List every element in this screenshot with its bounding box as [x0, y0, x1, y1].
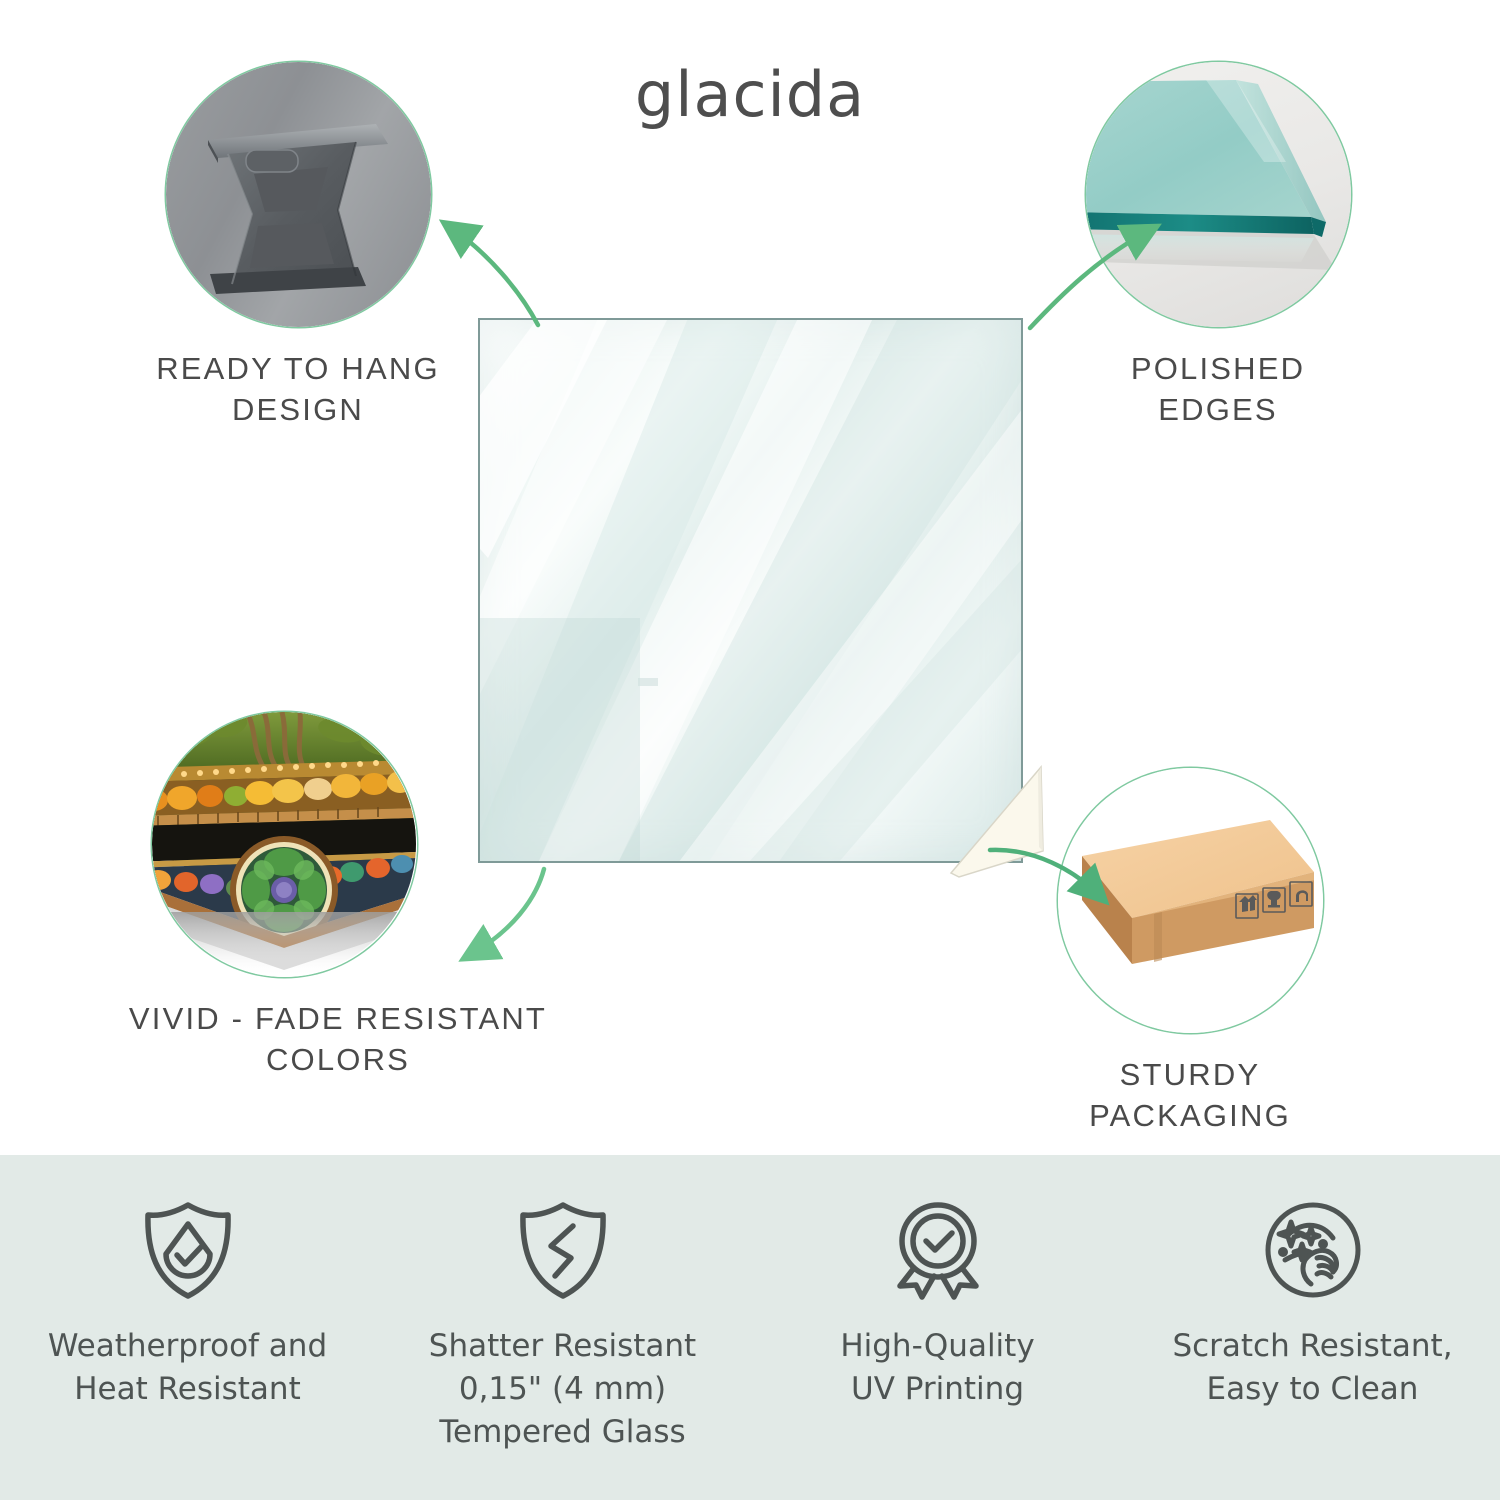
band-item-scratch-resistant: Scratch Resistant, Easy to Clean — [1125, 1155, 1500, 1411]
feature-image-circle — [166, 62, 431, 327]
feature-label: READY TO HANG DESIGN — [88, 349, 508, 431]
shield-droplet-check-icon — [0, 1197, 375, 1303]
arrow-to-ready-to-hang — [420, 195, 620, 355]
band-item-shatter-resistant: Shatter Resistant 0,15" (4 mm) Tempered … — [375, 1155, 750, 1453]
feature-label: STURDY PACKAGING — [990, 1055, 1390, 1137]
band-item-label: Shatter Resistant 0,15" (4 mm) Tempered … — [375, 1325, 750, 1453]
stained-glass-artwork-photo — [152, 712, 417, 977]
hanging-bracket-photo — [166, 62, 431, 327]
feature-label: VIVID - FADE RESISTANT COLORS — [88, 999, 588, 1081]
feature-label: POLISHED EDGES — [1018, 349, 1418, 431]
glass-reflections — [478, 318, 1023, 863]
arrow-to-polished-edges — [1020, 200, 1220, 350]
feature-image-circle — [152, 712, 417, 977]
hand-sparkle-clean-icon — [1125, 1197, 1500, 1303]
band-item-uv-printing: High-Quality UV Printing — [750, 1155, 1125, 1411]
band-item-weatherproof: Weatherproof and Heat Resistant — [0, 1155, 375, 1411]
arrow-to-vivid-colors — [440, 855, 640, 995]
feature-band: Weatherproof and Heat Resistant Shatter … — [0, 1155, 1500, 1500]
award-badge-check-icon — [750, 1197, 1125, 1303]
band-item-label: Scratch Resistant, Easy to Clean — [1125, 1325, 1500, 1411]
infographic-canvas: glacida — [0, 0, 1500, 1500]
shield-crack-icon — [375, 1197, 750, 1303]
band-item-label: Weatherproof and Heat Resistant — [0, 1325, 375, 1411]
band-item-label: High-Quality UV Printing — [750, 1325, 1125, 1411]
arrow-to-sturdy-packaging — [982, 830, 1142, 950]
tempered-glass-panel — [478, 318, 1023, 863]
